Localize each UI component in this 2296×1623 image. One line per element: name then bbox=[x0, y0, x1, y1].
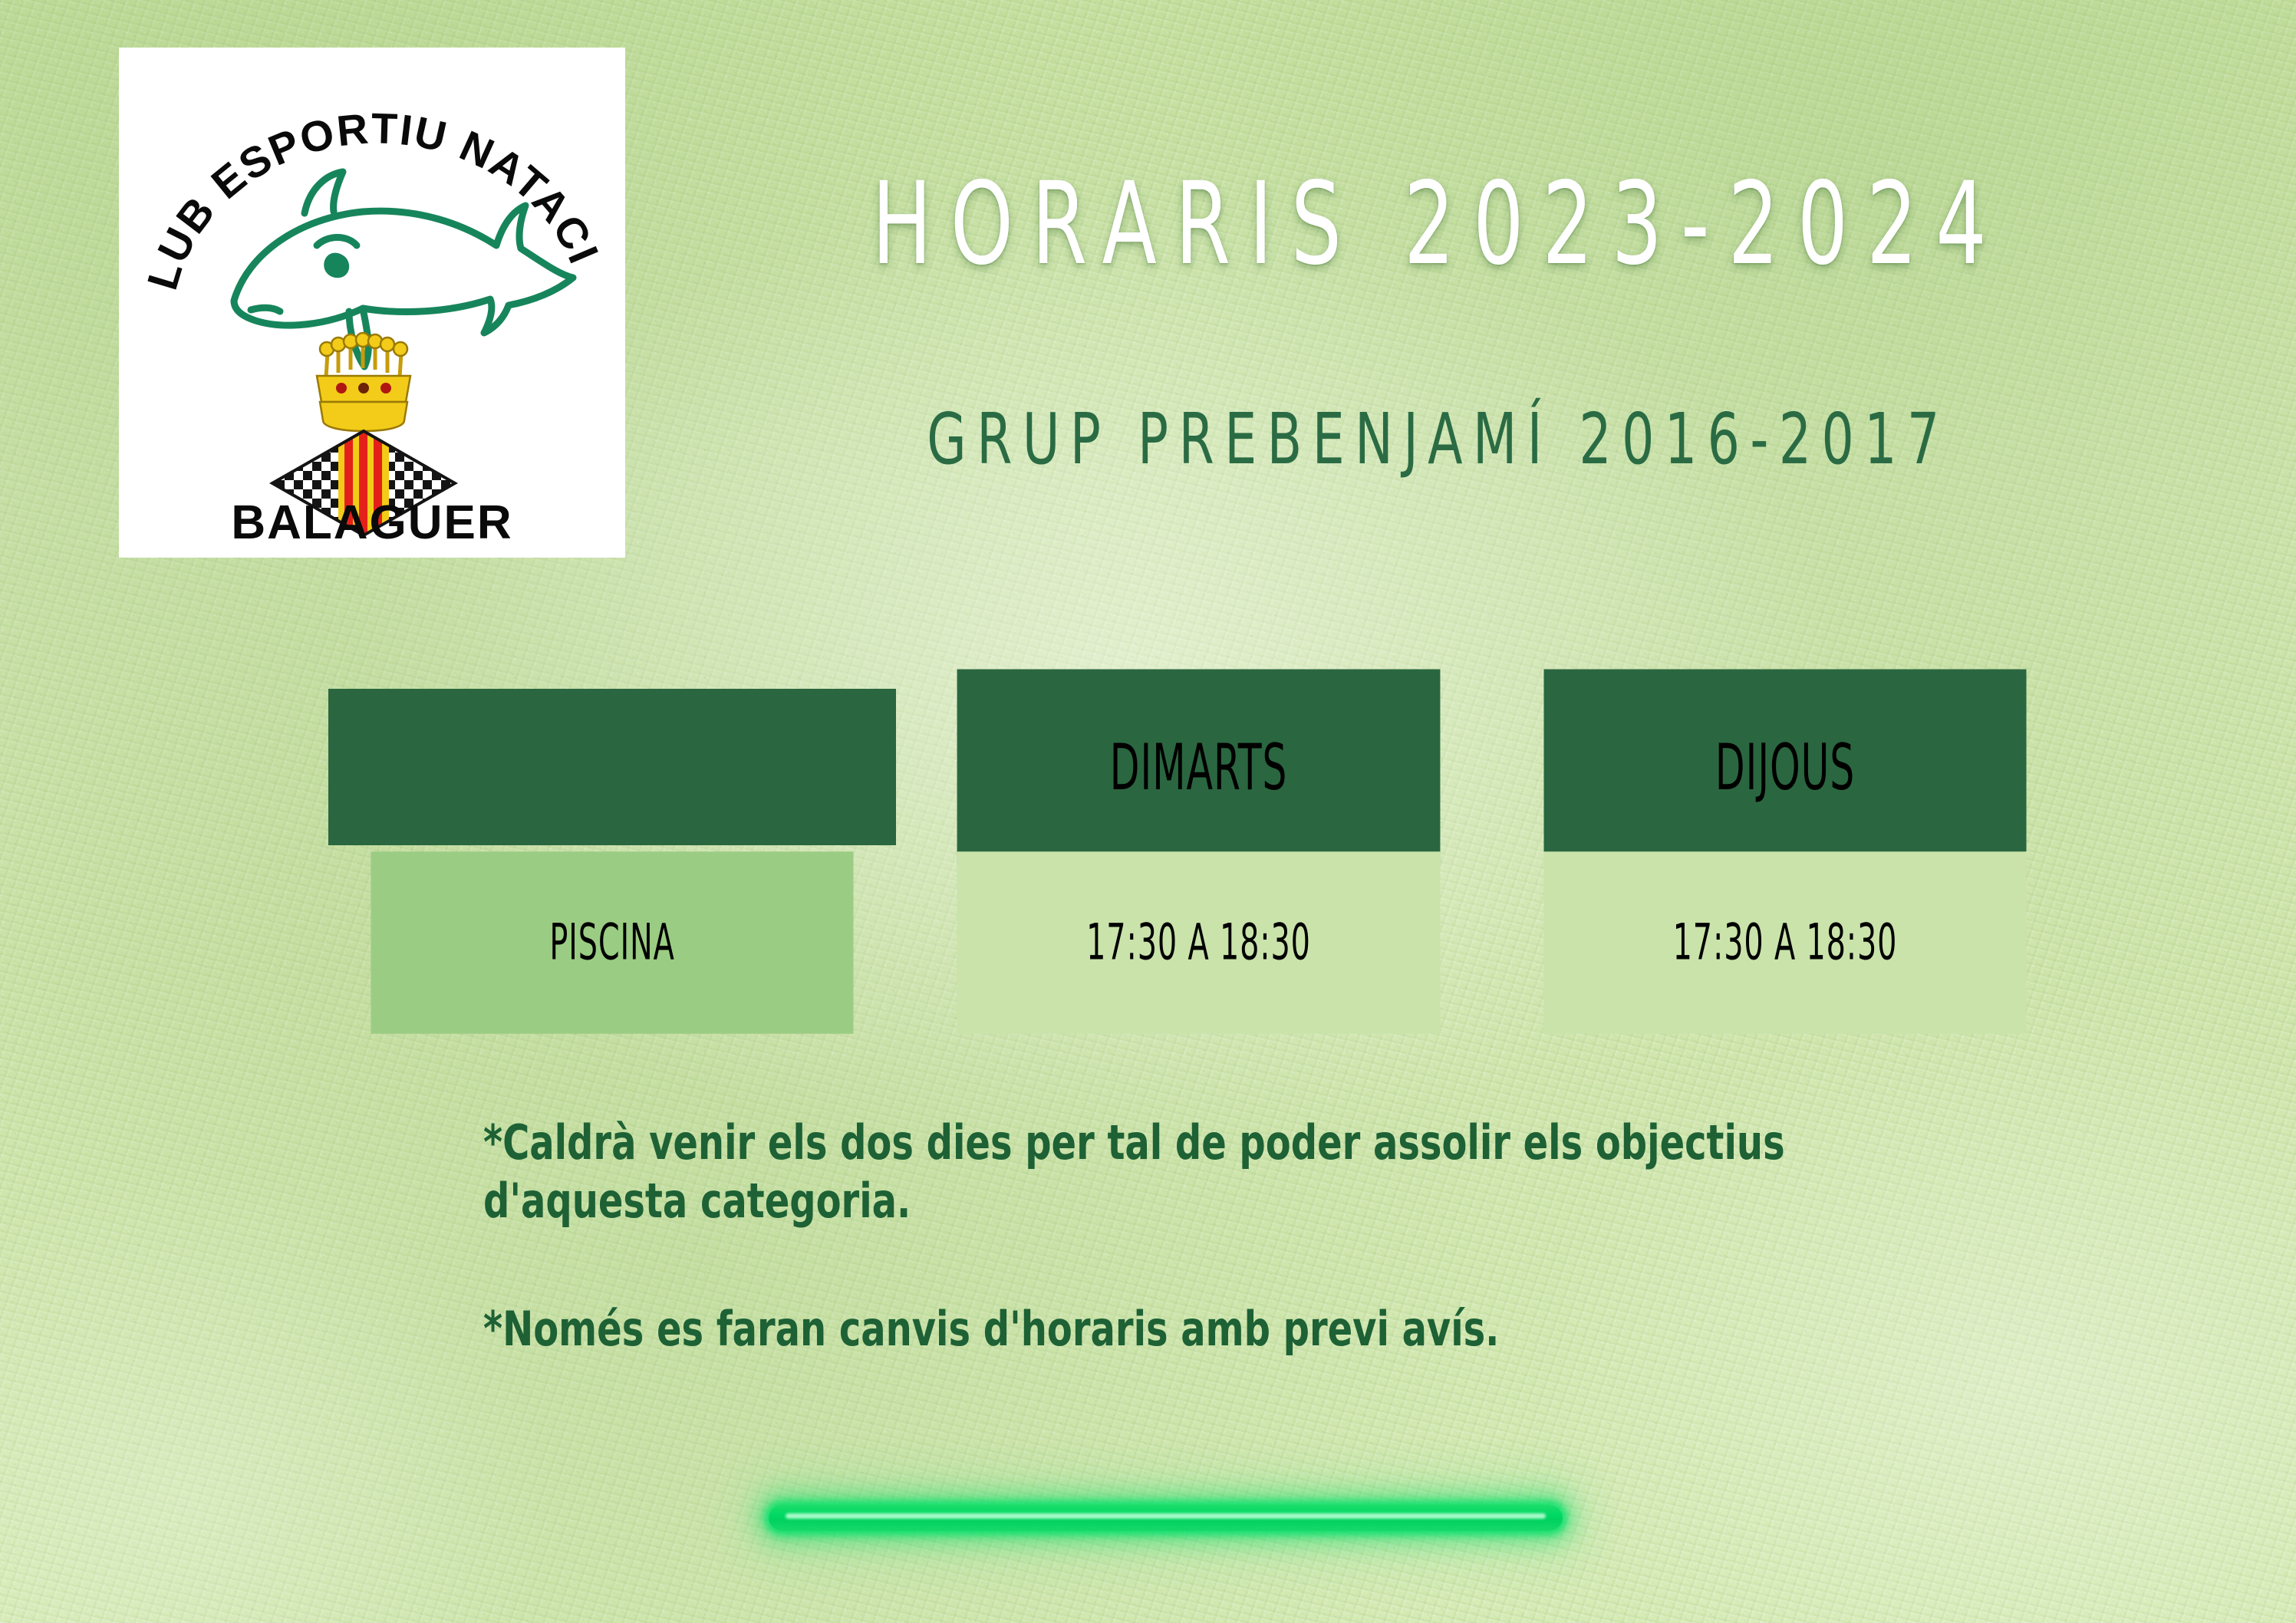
club-logo: CLUB ESPORTIU NATACIÓ bbox=[119, 48, 625, 558]
table-header-corner bbox=[328, 689, 896, 845]
neon-divider-highlight bbox=[786, 1513, 1546, 1519]
table-cell-dimarts-time: 17:30 A 18:30 bbox=[957, 851, 1441, 1034]
note-spacer bbox=[483, 1230, 1922, 1300]
table-header-dijous: DIJOUS bbox=[1544, 670, 2027, 865]
table-cell-dijous-time: 17:30 A 18:30 bbox=[1544, 851, 2027, 1034]
page-title: HORARIS 2023-2024 bbox=[757, 157, 2120, 290]
crown-icon bbox=[317, 333, 410, 431]
note-line-1: *Caldrà venir els dos dies per tal de po… bbox=[483, 1114, 1922, 1230]
note-line-2: *Només es faran canvis d'horaris amb pre… bbox=[483, 1300, 1922, 1358]
club-logo-graphic: CLUB ESPORTIU NATACIÓ bbox=[119, 48, 625, 558]
schedule-table: DIMARTS DIJOUS PISCINA 17:30 A 18:30 17:… bbox=[328, 689, 2069, 1016]
logo-bottom-text: BALAGUER bbox=[231, 496, 512, 549]
poster-canvas: CLUB ESPORTIU NATACIÓ bbox=[0, 0, 2296, 1623]
neon-divider-bar bbox=[769, 1505, 1563, 1531]
neon-divider bbox=[769, 1505, 1563, 1531]
table-header-dimarts: DIMARTS bbox=[957, 670, 1441, 865]
notes-block: *Caldrà venir els dos dies per tal de po… bbox=[483, 1114, 1922, 1358]
page-subtitle: GRUP PREBENJAMÍ 2016-2017 bbox=[772, 399, 2105, 480]
table-row-label-piscina: PISCINA bbox=[371, 851, 854, 1034]
